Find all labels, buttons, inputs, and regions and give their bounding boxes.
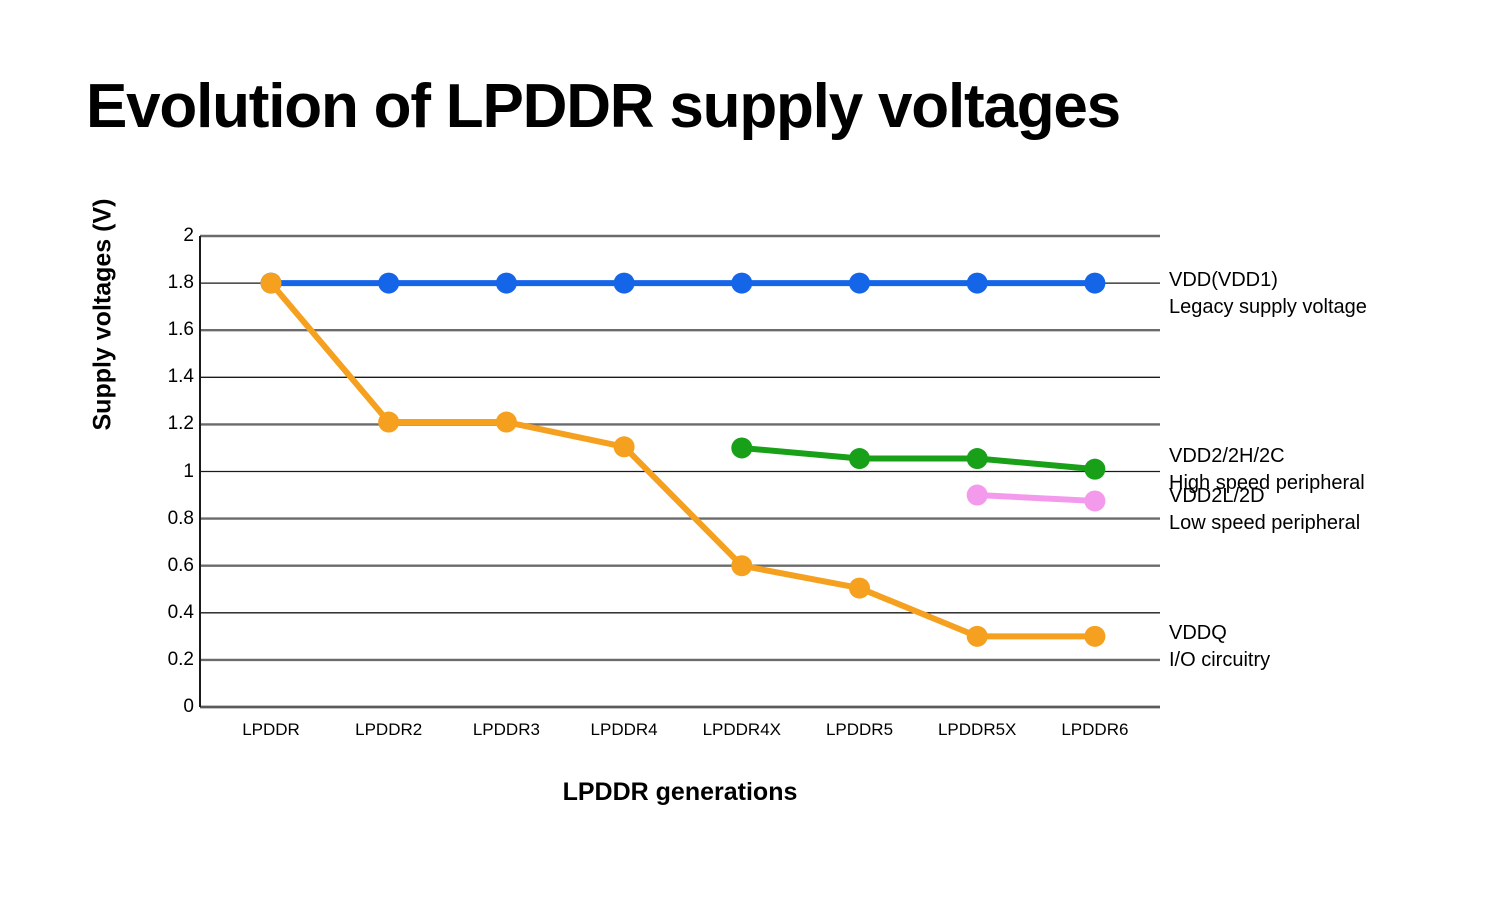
x-tick-label: LPDDR4	[591, 720, 658, 740]
data-point-marker[interactable]	[849, 578, 870, 599]
legend-series-name: VDD2/2H/2C	[1169, 443, 1365, 470]
data-point-marker[interactable]	[378, 412, 399, 433]
legend-series-description: I/O circuitry	[1169, 647, 1270, 674]
x-tick-label: LPDDR4X	[703, 720, 781, 740]
data-point-marker[interactable]	[1084, 273, 1105, 294]
legend-series-name: VDDQ	[1169, 620, 1270, 647]
legend-series-description: Low speed peripheral	[1169, 510, 1360, 537]
data-point-marker[interactable]	[967, 626, 988, 647]
x-tick-label: LPDDR2	[355, 720, 422, 740]
chart-container: Evolution of LPDDR supply voltages Suppl…	[0, 0, 1500, 900]
legend-series-description: Legacy supply voltage	[1169, 294, 1367, 321]
x-axis-title: LPDDR generations	[200, 778, 1160, 807]
x-tick-label: LPDDR5X	[938, 720, 1016, 740]
data-point-marker[interactable]	[1084, 490, 1105, 511]
series-line	[742, 448, 1095, 469]
data-point-marker[interactable]	[614, 436, 635, 457]
x-tick-label: LPDDR3	[473, 720, 540, 740]
x-tick-label: LPDDR	[242, 720, 300, 740]
series-vdd-vdd1-	[261, 273, 1106, 294]
data-point-marker[interactable]	[261, 273, 282, 294]
data-point-marker[interactable]	[614, 273, 635, 294]
data-point-marker[interactable]	[1084, 626, 1105, 647]
data-point-marker[interactable]	[731, 437, 752, 458]
series-line	[977, 495, 1095, 501]
data-point-marker[interactable]	[849, 273, 870, 294]
legend-series-name: VDD2L/2D	[1169, 483, 1360, 510]
x-tick-label: LPDDR5	[826, 720, 893, 740]
legend-entry[interactable]: VDD(VDD1)Legacy supply voltage	[1169, 267, 1367, 321]
series-vdd2l-2d	[967, 485, 1106, 512]
data-point-marker[interactable]	[731, 273, 752, 294]
legend-entry[interactable]: VDDQI/O circuitry	[1169, 620, 1270, 674]
data-point-marker[interactable]	[496, 412, 517, 433]
data-point-marker[interactable]	[967, 448, 988, 469]
data-point-marker[interactable]	[1084, 459, 1105, 480]
data-point-marker[interactable]	[967, 273, 988, 294]
data-point-marker[interactable]	[967, 485, 988, 506]
series-vdd2-2h-2c	[731, 437, 1105, 479]
x-tick-label: LPDDR6	[1061, 720, 1128, 740]
data-point-marker[interactable]	[731, 555, 752, 576]
legend-series-name: VDD(VDD1)	[1169, 267, 1367, 294]
legend-entry[interactable]: VDD2L/2DLow speed peripheral	[1169, 483, 1360, 537]
data-point-marker[interactable]	[849, 448, 870, 469]
data-point-marker[interactable]	[378, 273, 399, 294]
data-point-marker[interactable]	[496, 273, 517, 294]
